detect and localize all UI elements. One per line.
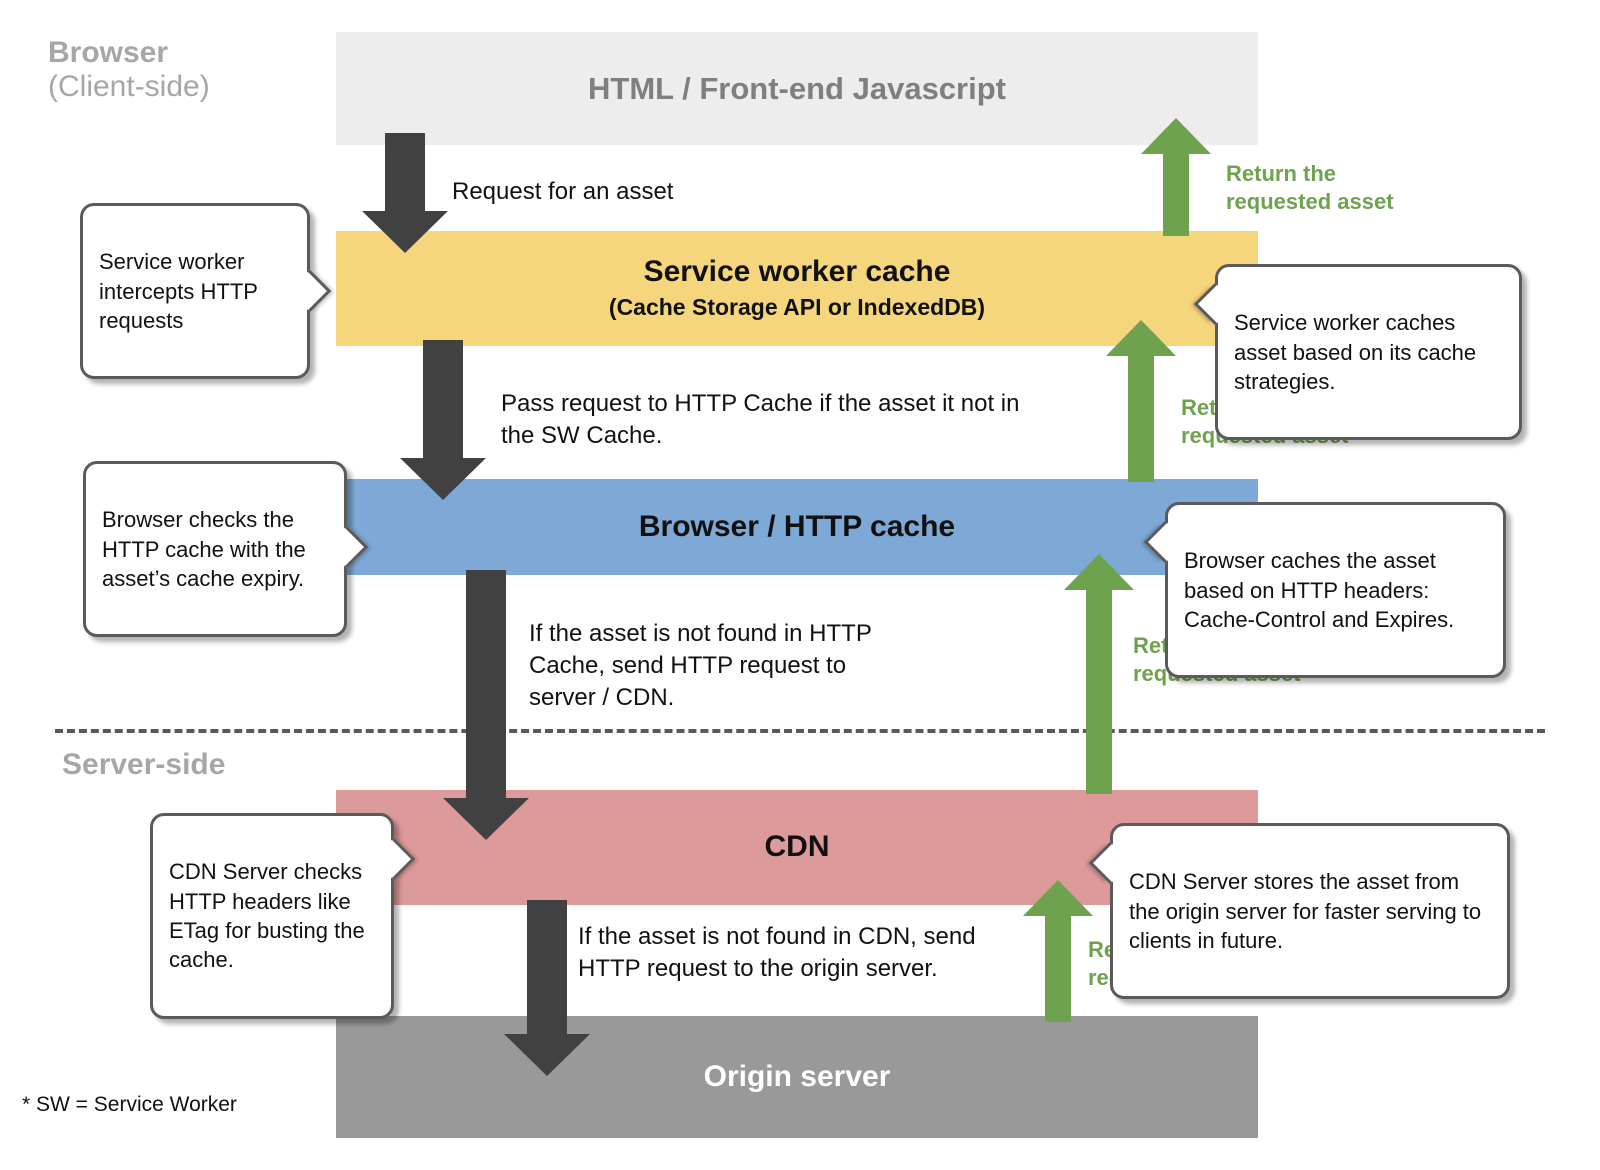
callout-tail-icon xyxy=(289,270,331,312)
client-server-divider xyxy=(55,729,1545,733)
callout-text-service-worker-caches: Service worker caches asset based on its… xyxy=(1234,310,1476,394)
callout-text-cdn-server-stores: CDN Server stores the asset from the ori… xyxy=(1129,869,1481,953)
callout-browser-caches-asset: Browser caches the asset based on HTTP h… xyxy=(1165,502,1506,678)
layer-title-cdn: CDN xyxy=(765,830,830,865)
callout-cdn-server-stores: CDN Server stores the asset from the ori… xyxy=(1110,823,1510,999)
callout-browser-checks-http-cache: Browser checks the HTTP cache with the a… xyxy=(83,461,347,637)
layer-title-service-worker-cache: Service worker cache xyxy=(644,255,951,290)
layer-band-origin-server: Origin server xyxy=(336,1016,1258,1138)
callout-text-cdn-server-checks: CDN Server checks HTTP headers like ETag… xyxy=(169,859,365,972)
callout-text-service-worker-intercepts: Service worker intercepts HTTP requests xyxy=(99,249,258,333)
flow-label-pass-to-http-cache: Pass request to HTTP Cache if the asset … xyxy=(501,388,1019,452)
flow-label-asset-not-in-http-cache: If the asset is not found in HTTP Cache,… xyxy=(529,618,872,714)
layer-subtitle-service-worker-cache: (Cache Storage API or IndexedDB) xyxy=(609,294,985,322)
layer-title-html: HTML / Front-end Javascript xyxy=(588,71,1006,107)
section-heading-browser: Browser (Client-side) xyxy=(48,36,210,103)
layer-title-http-cache: Browser / HTTP cache xyxy=(639,510,955,545)
return-label-to-html: Return the requested asset xyxy=(1226,160,1394,215)
section-heading-browser-line1: Browser xyxy=(48,36,210,70)
request-arrow-sw-to-http-icon xyxy=(400,340,486,500)
request-arrow-html-to-sw-icon xyxy=(362,133,448,253)
callout-service-worker-intercepts: Service worker intercepts HTTP requests xyxy=(80,203,310,379)
return-arrow-sw-to-html-icon xyxy=(1141,118,1211,236)
callout-cdn-server-checks: CDN Server checks HTTP headers like ETag… xyxy=(150,813,394,1019)
section-heading-browser-line2: (Client-side) xyxy=(48,70,210,104)
return-arrow-http-to-sw-icon xyxy=(1106,320,1176,482)
request-arrow-http-to-cdn-icon xyxy=(443,570,529,840)
layer-band-html: HTML / Front-end Javascript xyxy=(336,32,1258,145)
return-arrow-cdn-to-http-icon xyxy=(1064,554,1134,794)
footnote-sw-abbreviation: * SW = Service Worker xyxy=(22,1093,237,1117)
flow-label-request-asset: Request for an asset xyxy=(452,176,673,208)
flow-label-asset-not-in-cdn: If the asset is not found in CDN, send H… xyxy=(578,921,976,985)
callout-service-worker-caches: Service worker caches asset based on its… xyxy=(1215,264,1522,440)
section-heading-server: Server-side xyxy=(62,748,225,782)
callout-text-browser-caches-asset: Browser caches the asset based on HTTP h… xyxy=(1184,548,1454,632)
layer-title-origin-server: Origin server xyxy=(704,1060,891,1095)
diagram-canvas: Browser (Client-side) Server-side HTML /… xyxy=(0,0,1600,1170)
callout-text-browser-checks-http-cache: Browser checks the HTTP cache with the a… xyxy=(102,507,306,591)
return-arrow-origin-to-cdn-icon xyxy=(1023,880,1093,1022)
